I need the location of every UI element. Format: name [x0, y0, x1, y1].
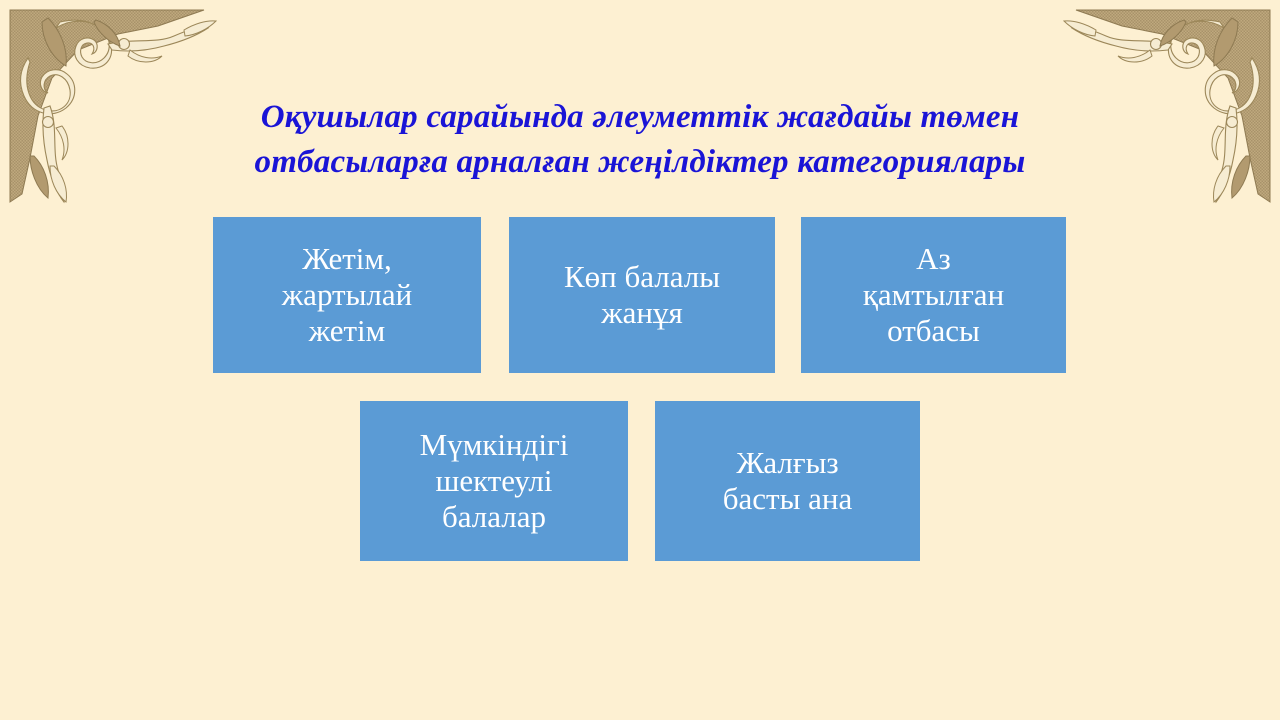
category-box-single-mother[interactable]: Жалғыз басты ана — [655, 401, 920, 561]
category-box-low-income-family[interactable]: Аз қамтылған отбасы — [801, 217, 1066, 373]
slide-title: Оқушылар сарайында әлеуметтік жағдайы тө… — [190, 95, 1090, 184]
category-box-children-with-disabilities[interactable]: Мүмкіндігі шектеулі балалар — [360, 401, 628, 561]
category-box-many-children-family[interactable]: Көп балалы жанұя — [509, 217, 775, 373]
category-box-orphan[interactable]: Жетім, жартылай жетім — [213, 217, 481, 373]
ornate-corner-top-right-icon — [1060, 8, 1272, 204]
slide-canvas: Оқушылар сарайында әлеуметтік жағдайы тө… — [0, 0, 1280, 720]
ornate-corner-top-left-icon — [8, 8, 220, 204]
